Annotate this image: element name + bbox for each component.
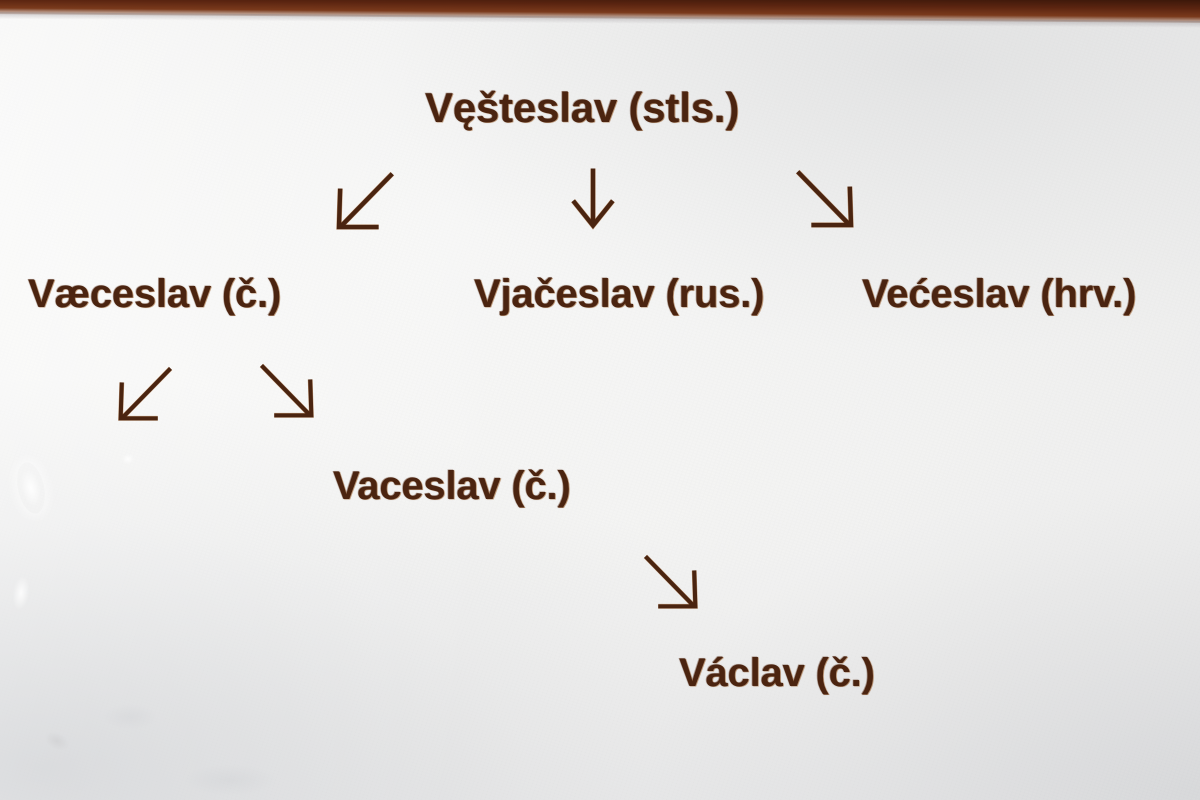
slide-photo: Vęšteslav (stls.)Væceslav (č.)Vjačeslav … (0, 0, 1200, 800)
term-vaclav: Václav (č.) (679, 651, 875, 696)
derivation-diagram: Vęšteslav (stls.)Væceslav (č.)Vjačeslav … (0, 0, 1200, 800)
arrow-down-right-icon (642, 553, 700, 611)
arrow-down-right-icon (258, 362, 316, 420)
arrow-down-right-icon (794, 168, 856, 230)
arrow-down-left-icon (116, 365, 174, 423)
arrow-down-left-icon (334, 170, 396, 232)
arrow-down-icon (562, 166, 624, 228)
term-vesteslav: Vęšteslav (stls.) (425, 84, 739, 132)
term-vjaceslav: Vjačeslav (rus.) (474, 272, 764, 317)
term-vaeceslav: Væceslav (č.) (28, 272, 281, 317)
term-vaceslav: Vaceslav (č.) (333, 464, 571, 509)
term-veceslav: Većeslav (hrv.) (862, 272, 1136, 317)
